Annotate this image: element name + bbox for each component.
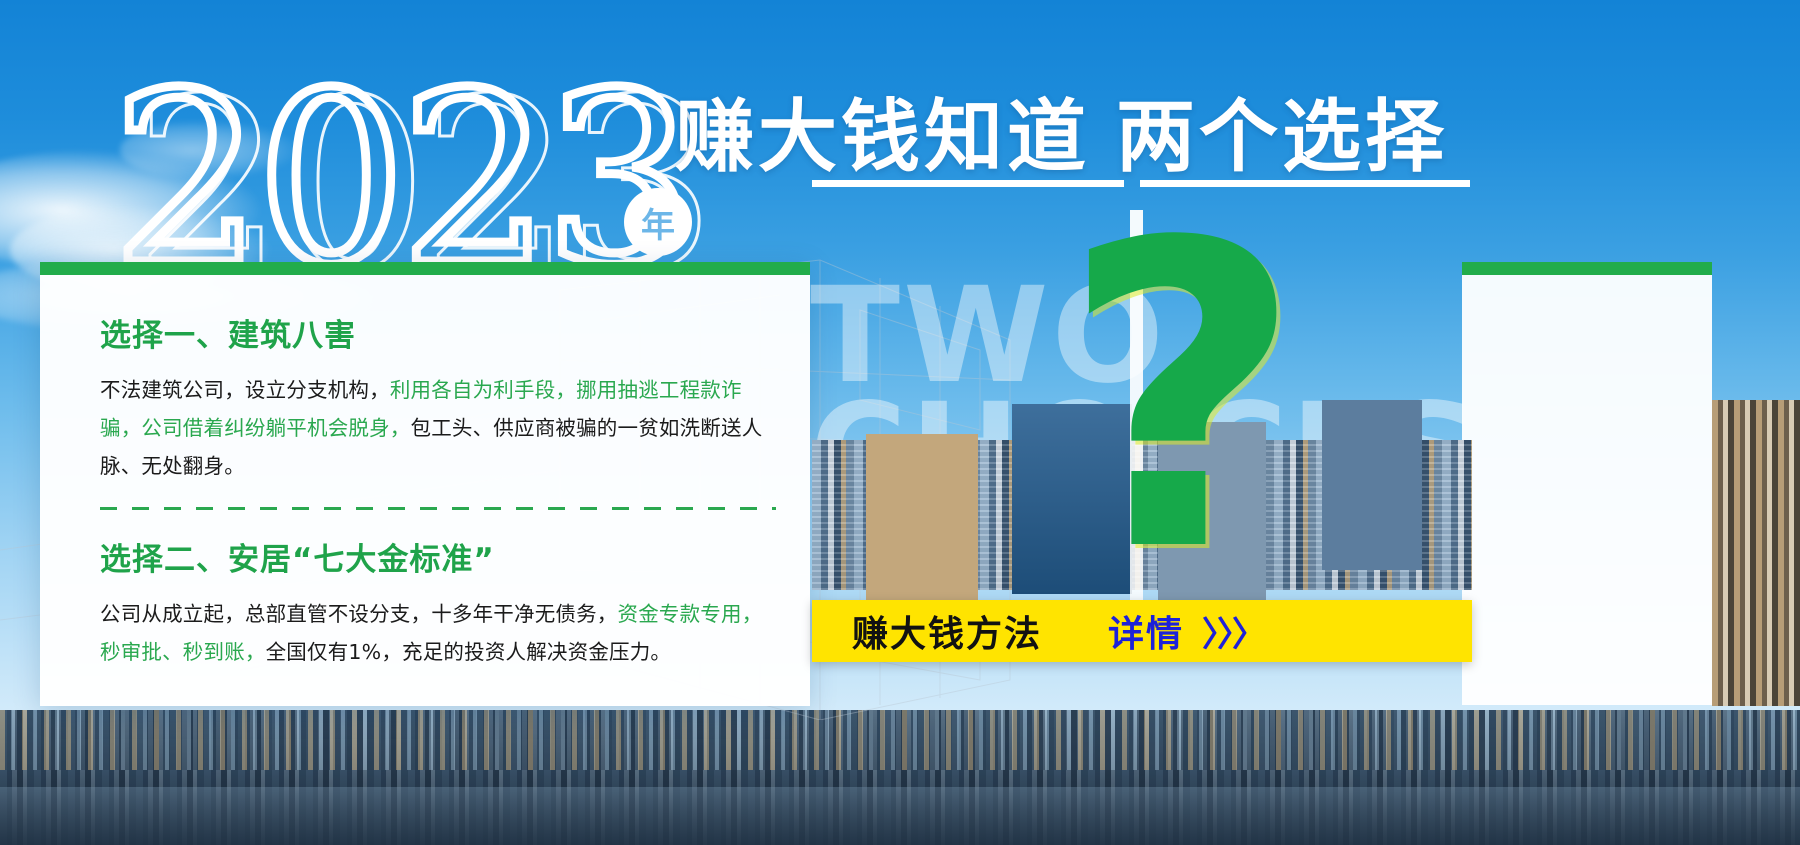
section-one-body: 不法建筑公司，设立分支机构，利用各自为利手段，挪用抽逃工程款诈骗，公司借着纠纷躺…	[100, 371, 776, 485]
banner-stage: 2023 2023 年 赚大钱知道两个选择 选择一、建筑八害 不法建筑公司，设立…	[0, 0, 1800, 845]
water-reflection	[0, 787, 1800, 845]
card-top-accent-bar	[40, 262, 810, 275]
section-two-title: 选择二、安居“七大金标准”	[100, 534, 776, 579]
right-white-panel	[1462, 275, 1712, 705]
section-two-body: 公司从成立起，总部直管不设分支，十多年干净无债务，资金专款专用，秒审批、秒到账，…	[100, 595, 776, 671]
section-two-text-c: 全国仅有1%，充足的投资人解决资金压力。	[266, 640, 672, 664]
cta-detail-link[interactable]: 详情	[1108, 605, 1184, 657]
content-card: 选择一、建筑八害 不法建筑公司，设立分支机构，利用各自为利手段，挪用抽逃工程款诈…	[40, 262, 810, 706]
right-green-accent-bar	[1462, 262, 1712, 275]
section-one-title: 选择一、建筑八害	[100, 310, 776, 355]
cta-bar[interactable]: 赚大钱方法 详情 〉〉〉	[812, 600, 1472, 662]
right-visual-panel: TWO CHOICES ? 赚大钱方法 详情 〉〉〉	[812, 190, 1472, 662]
chevron-right-icon[interactable]: 〉〉〉	[1202, 607, 1264, 656]
section-divider	[100, 507, 776, 510]
section-two-text-a: 公司从成立起，总部直管不设分支，十多年干净无债务，	[100, 602, 618, 626]
right-edge-cityscape	[1712, 400, 1800, 706]
section-one-text-a: 不法建筑公司，设立分支机构，	[100, 378, 390, 402]
question-mark-icon: ?	[1060, 210, 1304, 590]
cta-main-label: 赚大钱方法	[852, 605, 1042, 657]
year-suffix-badge: 年	[624, 188, 692, 256]
headline-part1: 赚大钱知道	[675, 91, 1090, 183]
